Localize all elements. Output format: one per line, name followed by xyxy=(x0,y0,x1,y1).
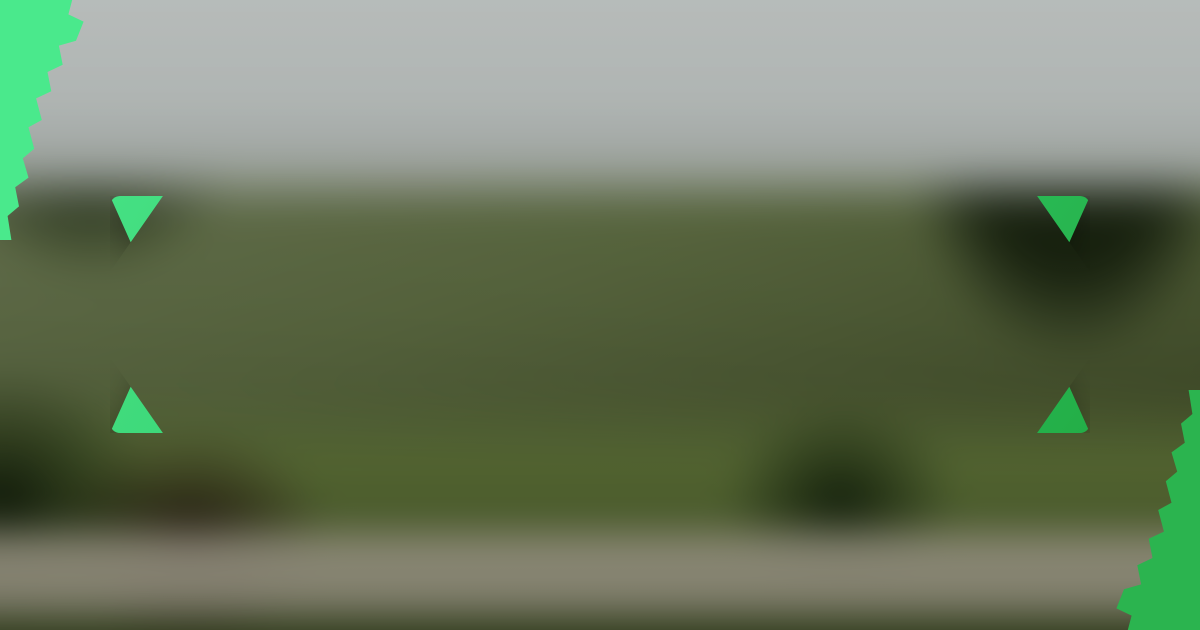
social-share-card: 4-1-4-1 Defensive Formation: Defensive c… xyxy=(0,0,1200,630)
ribbon-banner-shape: 4-1-4-1 Defensive Formation: Defensive c… xyxy=(110,196,1090,433)
banner-title: 4-1-4-1 Defensive Formation: Defensive c… xyxy=(110,257,1090,372)
ribbon-banner: 4-1-4-1 Defensive Formation: Defensive c… xyxy=(110,196,1090,433)
ribbon-banner-fill: 4-1-4-1 Defensive Formation: Defensive c… xyxy=(110,196,1090,433)
